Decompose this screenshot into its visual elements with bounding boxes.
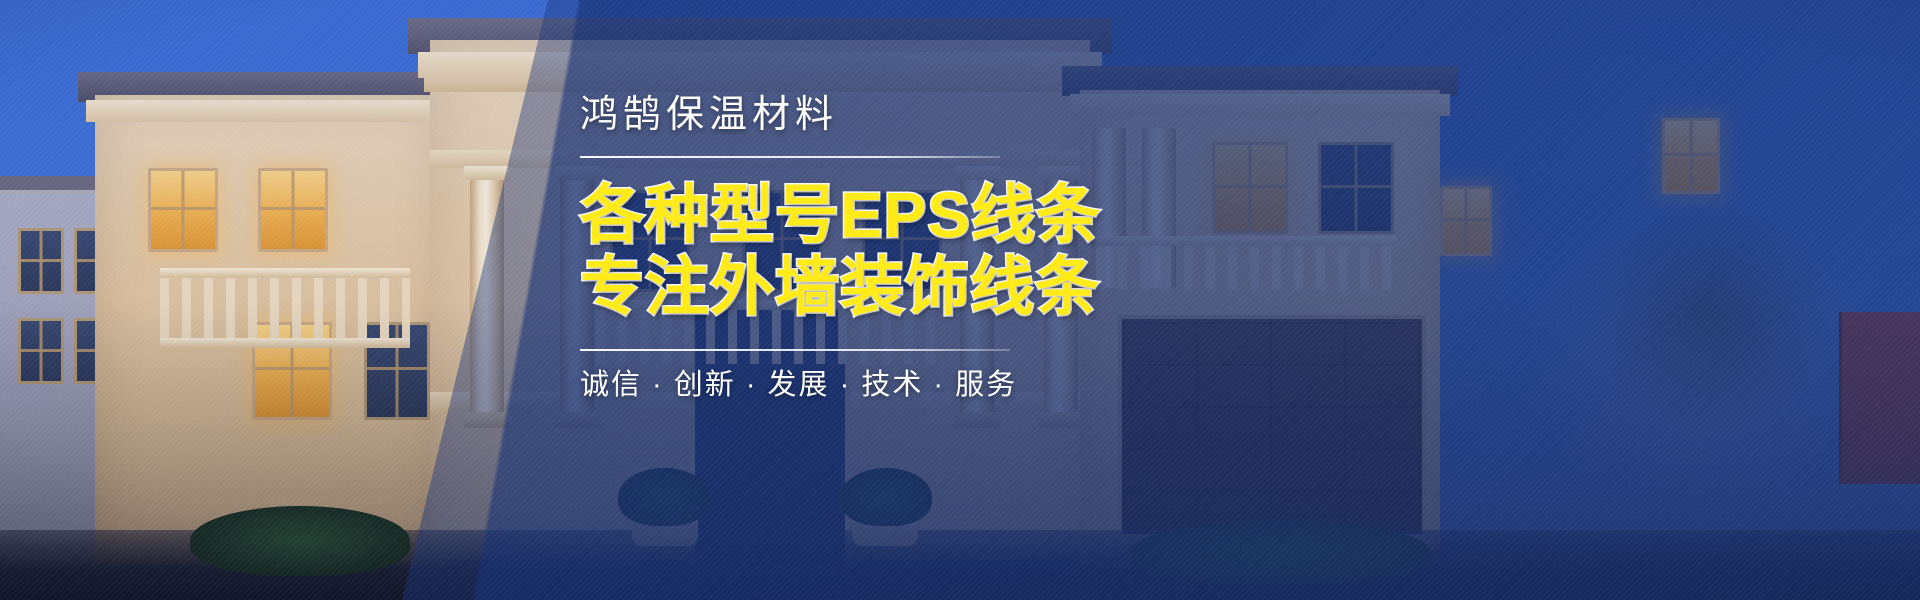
banner-content: 鸿鹄保温材料 各种型号EPS线条 专注外墙装饰线条 诚信 · 创新 · 发展 ·… xyxy=(580,96,1050,400)
divider-bottom xyxy=(580,349,1010,351)
promo-banner: 鸿鹄保温材料 各种型号EPS线条 专注外墙装饰线条 诚信 · 创新 · 发展 ·… xyxy=(0,0,1920,600)
brand-name: 鸿鹄保温材料 xyxy=(580,96,1050,134)
divider-top xyxy=(580,156,1000,158)
tagline: 诚信 · 创新 · 发展 · 技术 · 服务 xyxy=(580,371,1050,400)
headline-line-1: 各种型号EPS线条 xyxy=(580,180,1050,252)
headline-group: 各种型号EPS线条 专注外墙装饰线条 xyxy=(580,180,1050,323)
headline-line-2: 专注外墙装饰线条 xyxy=(580,252,1050,324)
